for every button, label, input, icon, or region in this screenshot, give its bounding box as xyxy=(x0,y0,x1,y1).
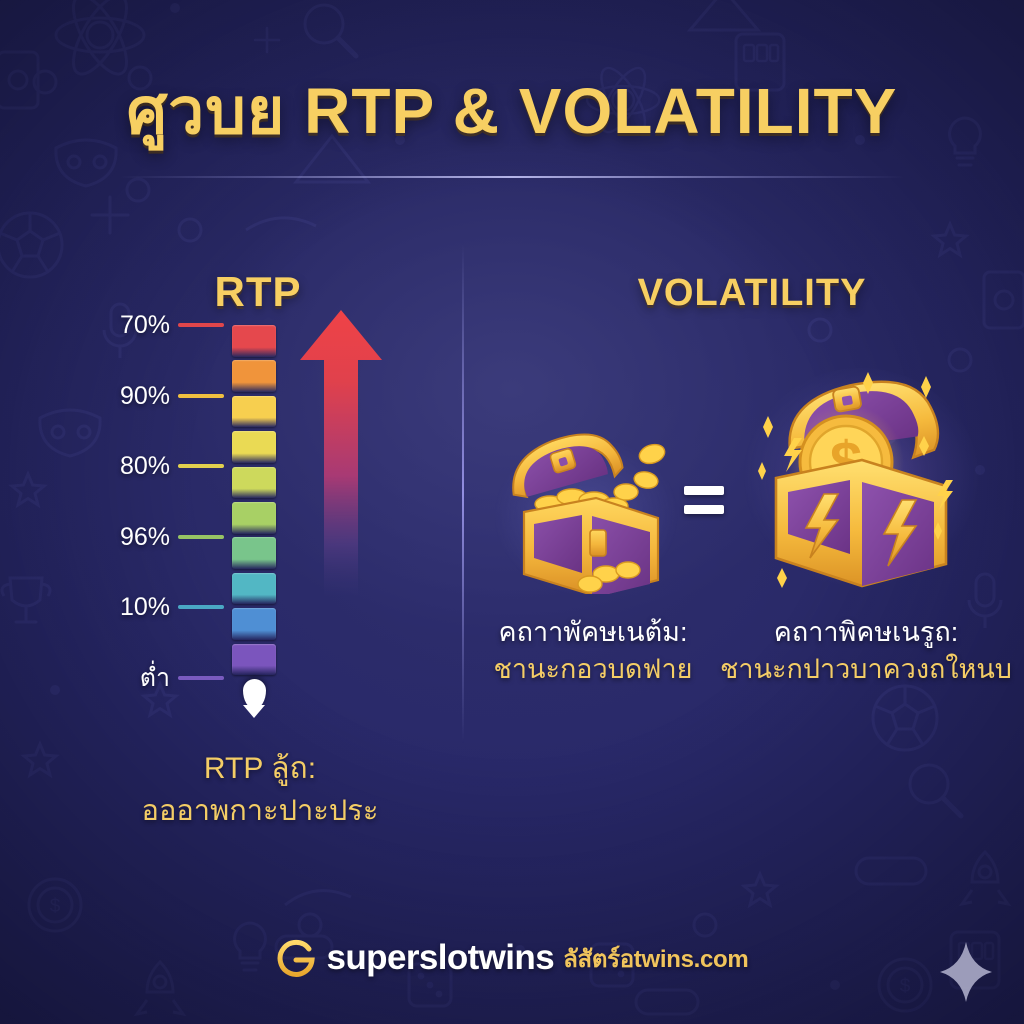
equals-sign xyxy=(684,478,728,522)
brand-domain: ลัสัตร์อtwins.com xyxy=(563,939,748,978)
rtp-tick-label: 90% xyxy=(50,386,170,406)
rtp-tick-row: 96% xyxy=(0,527,232,547)
left-caption-bottom: ชานะกอวบดฟาย xyxy=(458,651,728,688)
rtp-swatch xyxy=(232,502,276,534)
rtp-tick-dash xyxy=(178,394,224,398)
up-arrow-icon xyxy=(296,308,386,598)
rtp-tick-dash xyxy=(178,464,224,468)
left-caption-top: คถาาพัคษเนต้ม: xyxy=(458,614,728,651)
rtp-tick-row: 90% xyxy=(0,386,232,406)
equals-bar-top xyxy=(684,486,724,495)
rtp-tick-row: ต่ำ xyxy=(0,668,232,688)
equals-bar-bottom xyxy=(684,505,724,514)
rtp-tick-label: 80% xyxy=(50,456,170,476)
rtp-tick-row: 70% xyxy=(0,315,232,335)
rtp-tick-dash xyxy=(178,676,224,680)
rtp-swatch xyxy=(232,467,276,499)
rtp-tick-dash xyxy=(178,535,224,539)
right-caption-bottom: ชานะกปาวบาควงถใหนบ xyxy=(716,651,1016,688)
volatility-left-caption: คถาาพัคษเนต้ม: ชานะกอวบดฟาย xyxy=(458,614,728,689)
volatility-heading: VOLATILITY xyxy=(552,272,952,315)
superslotwins-s-logo-icon xyxy=(276,938,316,978)
water-drop-icon xyxy=(243,679,266,709)
rtp-swatch xyxy=(232,608,276,640)
rtp-tick-dash xyxy=(178,323,224,327)
rtp-caption-line2: อออาพกาะปาะประ xyxy=(60,791,460,832)
rtp-tick-label: 96% xyxy=(50,527,170,547)
header-divider xyxy=(120,176,904,178)
rtp-tick-label: 10% xyxy=(50,597,170,617)
sparkle-icon xyxy=(938,940,994,1004)
treasure-chest-lightning-icon: $ xyxy=(742,362,980,600)
rtp-swatch xyxy=(232,644,276,676)
rtp-tick-dash xyxy=(178,605,224,609)
footer-branding: superslotwins ลัสัตร์อtwins.com xyxy=(0,938,1024,978)
page-title: ศูวบย RTP & VOLATILITY xyxy=(0,78,1024,145)
volatility-right-caption: คถาาพิคษเนรูถ: ชานะกปาวบาควงถใหนบ xyxy=(716,614,1016,689)
rtp-color-scale xyxy=(232,325,276,680)
rtp-caption: RTP ลู้ถ: อออาพกาะปาะประ xyxy=(60,748,460,832)
rtp-swatch xyxy=(232,537,276,569)
rtp-tick-row: 10% xyxy=(0,597,232,617)
infographic-canvas: $ xyxy=(0,0,1024,1024)
brand-name: superslotwins xyxy=(327,938,555,978)
rtp-swatch xyxy=(232,396,276,428)
rtp-caption-line1: RTP ลู้ถ: xyxy=(60,748,460,791)
rtp-tick-label: ต่ำ xyxy=(50,668,170,688)
rtp-swatch xyxy=(232,431,276,463)
right-caption-top: คถาาพิคษเนรูถ: xyxy=(716,614,1016,651)
rtp-tick-label: 70% xyxy=(50,315,170,335)
rtp-swatch xyxy=(232,573,276,605)
rtp-swatch xyxy=(232,325,276,357)
rtp-tick-row: 80% xyxy=(0,456,232,476)
rtp-swatch xyxy=(232,360,276,392)
treasure-chest-coins-icon xyxy=(494,424,684,594)
